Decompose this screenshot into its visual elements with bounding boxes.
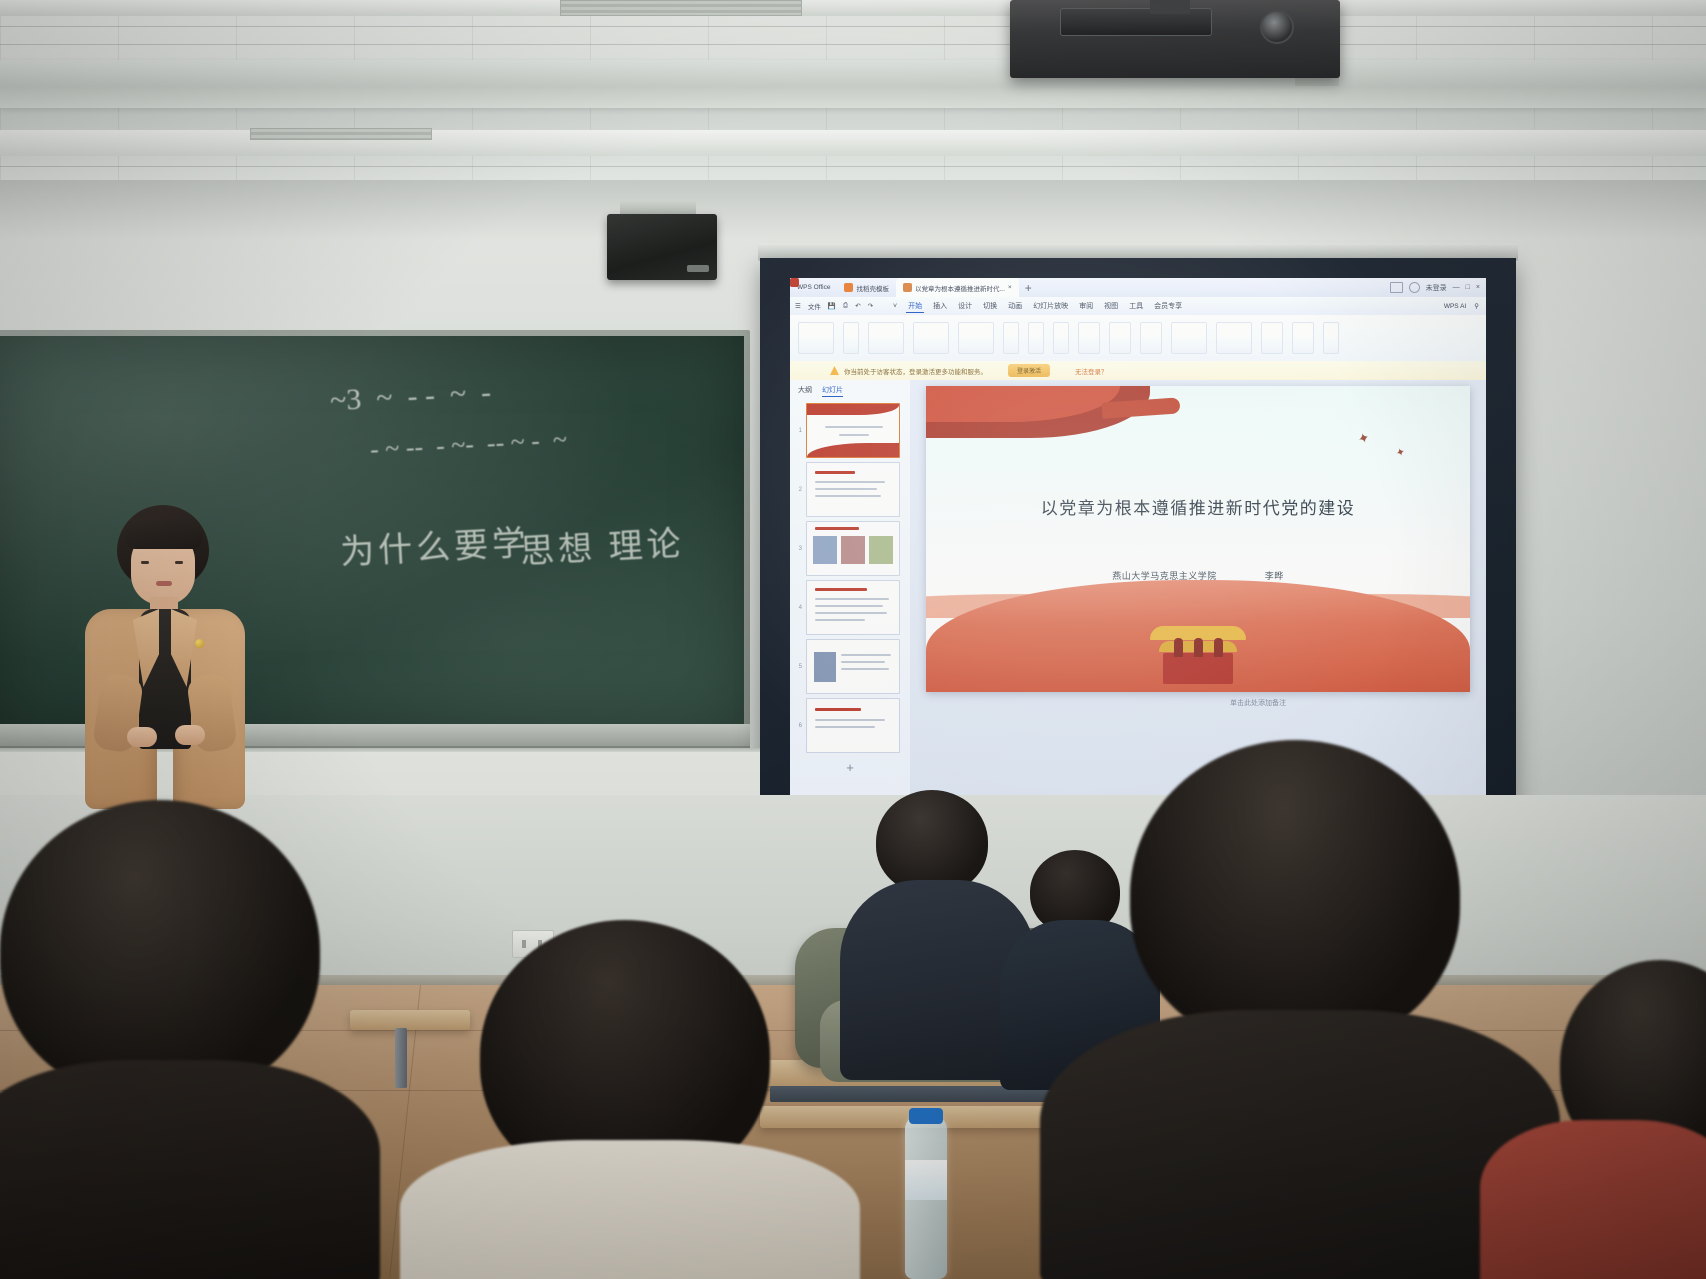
thumb-line <box>815 605 883 607</box>
tab-docer-templates[interactable]: 找稻壳模板 <box>837 278 896 297</box>
minimize-button[interactable]: — <box>1453 284 1460 291</box>
lecturer-mouth <box>156 581 172 586</box>
lecturer-hand-left <box>127 727 157 747</box>
slide-thumbnail-row[interactable]: 4 <box>790 578 910 637</box>
thumb-line <box>841 668 889 670</box>
thumb-sub-line <box>839 434 869 436</box>
tiananmen-gate-icon <box>1150 626 1246 688</box>
slide-thumbnail[interactable] <box>806 580 900 635</box>
gate-archway <box>1174 638 1183 657</box>
projector-ceiling-bracket <box>1150 0 1190 14</box>
slide-thumbnail-row[interactable]: 3 <box>790 519 910 578</box>
ceiling-seam <box>0 26 1706 27</box>
thumb-line <box>815 598 889 600</box>
thumb-title-line <box>815 588 867 591</box>
thumb-art-footer <box>807 443 899 457</box>
backup-icon[interactable] <box>1390 282 1403 293</box>
lecturer-eye-right <box>175 561 183 564</box>
window-close-button[interactable]: × <box>1476 284 1480 291</box>
thumb-title-line <box>815 708 861 711</box>
tab-insert[interactable]: 插入 <box>931 300 949 312</box>
tab-outline[interactable]: 大纲 <box>798 385 812 397</box>
chevron-down-icon[interactable]: ˅ <box>891 302 899 311</box>
close-icon[interactable]: × <box>1008 284 1012 291</box>
student-torso <box>1480 1120 1706 1279</box>
chalkboard-note-keywords: 为什么要学 <box>339 515 531 574</box>
format-painter-tool[interactable] <box>843 322 859 354</box>
cannot-login-link[interactable]: 无法登录？ <box>1075 366 1108 376</box>
new-tab-button[interactable]: + <box>1019 282 1038 294</box>
wall-shadow <box>0 180 1706 240</box>
line-spacing-tool[interactable] <box>1140 322 1162 354</box>
student-torso <box>400 1140 860 1279</box>
find-replace-tool[interactable] <box>1323 322 1339 354</box>
thumb-line <box>815 481 885 483</box>
thumb-image <box>841 536 865 564</box>
ribbon-tab-strip: ˅ 开始 插入 设计 切换 动画 幻灯片放映 审阅 视图 工具 会员专享 <box>891 300 1184 313</box>
lecturer-eye-left <box>141 561 149 564</box>
tab-member-exclusive[interactable]: 会员专享 <box>1152 300 1184 312</box>
wps-ribbon-toolbar <box>790 315 1486 362</box>
paste-tool[interactable] <box>798 322 834 354</box>
ceiling-seam <box>0 44 1706 45</box>
thumb-line <box>815 488 877 490</box>
slide-title: 以党章为根本遵循推进新时代党的建设 <box>926 494 1470 519</box>
ceiling-seam <box>0 166 1706 167</box>
classroom-photo-scene: ~3 ~ ‑ ‑ ~ ‑ ‑ ~ ‑‑ ‑ ~‑ ‑‑ ~ ‑ ~ 为什么要学 … <box>0 0 1706 1279</box>
thumb-line <box>815 726 875 728</box>
tab-label: 以党章为根本遵循推进新时代... <box>915 283 1005 293</box>
desk-leg <box>395 1028 407 1088</box>
pptx-file-icon <box>903 283 912 292</box>
redo-icon[interactable]: ↷ <box>868 302 873 310</box>
file-menu-button[interactable]: 文件 <box>808 301 821 311</box>
thumb-line <box>815 612 887 614</box>
tab-tools[interactable]: 工具 <box>1127 300 1145 312</box>
lecturer-fringe <box>125 517 203 549</box>
search-icon[interactable]: ⚲ <box>1474 302 1479 310</box>
slide-thumbnail-row[interactable]: 5 <box>790 637 910 696</box>
shapes-tool[interactable] <box>1171 322 1207 354</box>
arrange-tool[interactable] <box>1216 322 1252 354</box>
student-head <box>876 790 988 894</box>
ceiling-beam <box>0 0 1706 16</box>
gate-archway <box>1214 638 1223 657</box>
bold-tool[interactable] <box>1028 322 1044 354</box>
tab-label: 找稻壳模板 <box>856 283 889 293</box>
account-label[interactable]: 未登录 <box>1426 283 1447 293</box>
speaker-led-strip <box>687 265 709 272</box>
tab-wps-office[interactable]: WPS Office <box>790 278 837 297</box>
slide-number: 4 <box>793 605 802 611</box>
thumb-art-banner <box>807 404 899 415</box>
slide-thumbnail-row[interactable]: 2 <box>790 460 910 519</box>
tab-active-presentation[interactable]: 以党章为根本遵循推进新时代... × <box>896 278 1019 297</box>
tab-slideshow[interactable]: 幻灯片放映 <box>1031 300 1070 312</box>
slide-number: 3 <box>793 546 802 552</box>
thumb-title-line <box>815 471 855 474</box>
ceiling-vent <box>560 0 802 16</box>
outline-tool[interactable] <box>1292 322 1314 354</box>
lecturer-badge-pin <box>195 639 204 648</box>
bottle-label <box>905 1160 947 1200</box>
navigator-tabs: 大纲 幻灯片 <box>790 380 910 401</box>
lecturer-hand-right <box>175 725 205 745</box>
student-desk <box>350 1010 470 1030</box>
student-head <box>0 800 320 1100</box>
fill-color-tool[interactable] <box>1261 322 1283 354</box>
layout-tool[interactable] <box>913 322 949 354</box>
align-tool[interactable] <box>1078 322 1100 354</box>
student-torso <box>0 1060 380 1279</box>
slide-thumbnail[interactable] <box>806 403 900 458</box>
tab-start[interactable]: 开始 <box>906 300 924 313</box>
tab-transition[interactable]: 切换 <box>981 300 999 312</box>
tab-label: WPS Office <box>797 284 830 291</box>
slide-number: 6 <box>793 723 802 729</box>
warning-triangle-icon <box>830 366 839 375</box>
tab-design[interactable]: 设计 <box>956 300 974 312</box>
save-icon[interactable]: 💾 <box>828 302 836 310</box>
new-slide-tool[interactable] <box>868 322 904 354</box>
slide-navigator-pane: 大纲 幻灯片 1 2 <box>790 380 911 800</box>
ceiling-duct <box>0 60 1706 108</box>
bottle-cap <box>909 1108 943 1124</box>
projector-lens <box>1260 10 1294 44</box>
add-slide-button[interactable]: + <box>843 761 857 775</box>
thumb-line <box>841 654 891 656</box>
wps-ai-button[interactable]: WPS AI <box>1444 303 1466 310</box>
tab-review[interactable]: 审阅 <box>1077 300 1095 312</box>
slide-thumbnail[interactable] <box>806 521 900 576</box>
notice-text: 你当前处于访客状态，登录激活更多功能和服务。 <box>844 366 987 376</box>
thumb-line <box>815 619 865 621</box>
font-size-tool[interactable] <box>1003 322 1019 354</box>
tab-view[interactable]: 视图 <box>1102 300 1120 312</box>
slide-thumbnail-row[interactable]: 1 <box>790 401 910 460</box>
wps-logo-icon <box>790 278 799 287</box>
slide-thumbnail-row[interactable]: 6 <box>790 696 910 755</box>
lecturer <box>55 505 285 845</box>
bullet-list-tool[interactable] <box>1109 322 1131 354</box>
thumb-title-line <box>825 426 883 428</box>
slide-number: 5 <box>793 664 802 670</box>
thumb-title-line <box>815 527 859 530</box>
gate-wall <box>1163 653 1233 684</box>
slide-thumbnail[interactable] <box>806 462 900 517</box>
gate-archway <box>1194 638 1203 657</box>
slide-thumbnail[interactable] <box>806 698 900 753</box>
hamburger-icon[interactable]: ☰ <box>795 302 801 310</box>
tab-slides[interactable]: 幻灯片 <box>822 385 843 397</box>
current-slide[interactable]: ✦ ✦ 以党章为根本遵循推进新时代党的建设 燕山大学马克思主义学院 李晔 ★ <box>926 386 1470 692</box>
login-activate-button[interactable]: 登录激活 <box>1008 364 1050 377</box>
slide-number: 2 <box>793 487 802 493</box>
wps-ribbon-tabs: ☰ 文件 💾 ⎙ ↶ ↷ ˅ 开始 插入 设计 切换 动画 幻灯片放映 审阅 视… <box>790 297 1486 315</box>
slide-edit-stage: ✦ ✦ 以党章为根本遵循推进新时代党的建设 燕山大学马克思主义学院 李晔 ★ <box>910 380 1486 800</box>
wps-title-bar: WPS Office 找稻壳模板 以党章为根本遵循推进新时代... × + 未登… <box>790 278 1486 297</box>
student-head <box>1130 740 1460 1050</box>
maximize-button[interactable]: □ <box>1466 284 1470 291</box>
wall-speaker <box>607 214 717 280</box>
thumb-line <box>815 719 885 721</box>
guest-mode-notice-bar: 你当前处于访客状态，登录激活更多功能和服务。 登录激活 无法登录？ <box>790 361 1486 381</box>
account-avatar-icon[interactable] <box>1409 282 1420 293</box>
print-icon[interactable]: ⎙ <box>843 302 848 310</box>
thumb-portrait-image <box>814 652 836 682</box>
slide-number: 1 <box>793 428 802 434</box>
thumb-line <box>815 495 881 497</box>
tab-animation[interactable]: 动画 <box>1006 300 1024 312</box>
slide-thumbnail[interactable] <box>806 639 900 694</box>
thumb-image <box>869 536 893 564</box>
font-family-tool[interactable] <box>958 322 994 354</box>
ceiling-vent <box>250 128 432 140</box>
chalkboard-note-keywords-2: 思想 理论 <box>519 516 686 574</box>
undo-icon[interactable]: ↶ <box>855 302 860 310</box>
thumb-line <box>841 661 885 663</box>
italic-tool[interactable] <box>1053 322 1069 354</box>
docer-icon <box>844 283 853 292</box>
thumb-image <box>813 536 837 564</box>
